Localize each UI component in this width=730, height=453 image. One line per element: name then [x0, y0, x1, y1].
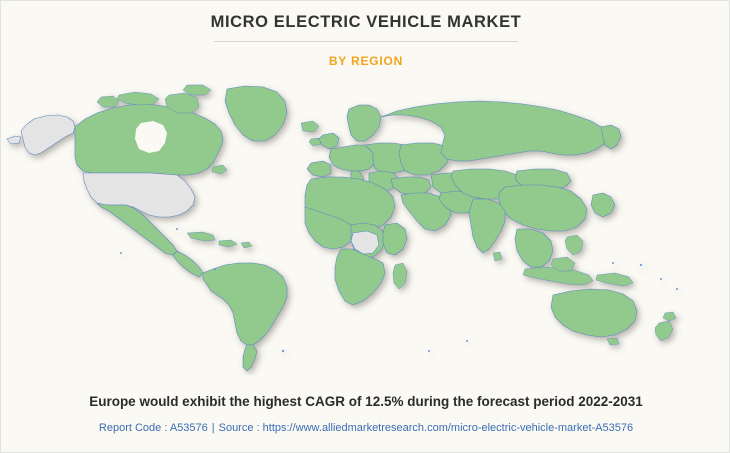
page-title: MICRO ELECTRIC VEHICLE MARKET	[1, 11, 730, 33]
island-speck	[282, 350, 284, 352]
region-ellesmere	[183, 85, 211, 95]
source-line: Report Code : A53576|Source : https://ww…	[1, 421, 730, 435]
title-divider	[214, 41, 518, 42]
region-korea-japan	[591, 193, 615, 217]
region-kamchatka	[601, 125, 621, 149]
report-code: Report Code : A53576	[99, 422, 208, 434]
page-subtitle: BY REGION	[1, 54, 730, 68]
region-british-isles	[319, 133, 339, 149]
region-newfoundland	[212, 165, 227, 174]
key-insight-text: Europe would exhibit the highest CAGR of…	[1, 393, 730, 411]
world-map-icon	[1, 83, 730, 375]
island-speck	[120, 252, 122, 254]
region-new-zealand-north	[663, 312, 676, 321]
island-speck	[640, 264, 642, 266]
world-map-container	[1, 83, 730, 375]
region-arctic-islands	[117, 92, 159, 105]
region-china	[499, 185, 587, 231]
island-speck	[612, 262, 614, 264]
region-southern-africa	[335, 249, 385, 305]
region-new-zealand	[655, 321, 673, 341]
region-southern-cone	[243, 345, 257, 371]
region-india	[469, 199, 505, 253]
region-philippines	[565, 235, 583, 255]
region-central-america	[173, 251, 203, 277]
island-speck	[660, 278, 662, 280]
island-speck	[466, 340, 468, 342]
region-cuba	[187, 232, 215, 241]
island-speck	[214, 268, 216, 270]
region-east-africa	[383, 223, 407, 255]
region-south-america	[203, 263, 287, 345]
region-greenland	[225, 86, 287, 141]
region-australia	[551, 289, 637, 337]
island-speck	[676, 288, 678, 290]
region-new-guinea	[596, 273, 633, 286]
infographic-card: MICRO ELECTRIC VEHICLE MARKET BY REGION	[0, 0, 730, 453]
footer: Europe would exhibit the highest CAGR of…	[1, 393, 730, 435]
region-eastern-europe	[399, 143, 449, 175]
island-speck	[176, 228, 178, 230]
region-sri-lanka	[493, 252, 502, 261]
region-madagascar	[393, 263, 407, 289]
region-southeast-asia	[515, 229, 553, 267]
map-landmasses	[7, 85, 678, 371]
region-iberia	[307, 161, 331, 177]
island-speck	[428, 350, 430, 352]
region-hispaniola	[219, 240, 237, 247]
source-label: Source :	[219, 422, 260, 434]
region-alaska	[21, 115, 75, 155]
region-ireland	[309, 138, 321, 146]
region-aleutians	[7, 136, 21, 144]
source-separator: |	[208, 422, 219, 434]
region-tasmania	[607, 338, 619, 345]
region-caribbean-isles	[241, 242, 252, 248]
region-scandinavia	[347, 105, 381, 141]
region-turkey	[391, 177, 431, 195]
header: MICRO ELECTRIC VEHICLE MARKET BY REGION	[1, 1, 730, 68]
region-iceland	[301, 121, 319, 132]
source-link[interactable]: https://www.alliedmarketresearch.com/mic…	[263, 422, 633, 434]
region-united-states	[83, 173, 195, 217]
region-victoria-island	[97, 96, 119, 107]
